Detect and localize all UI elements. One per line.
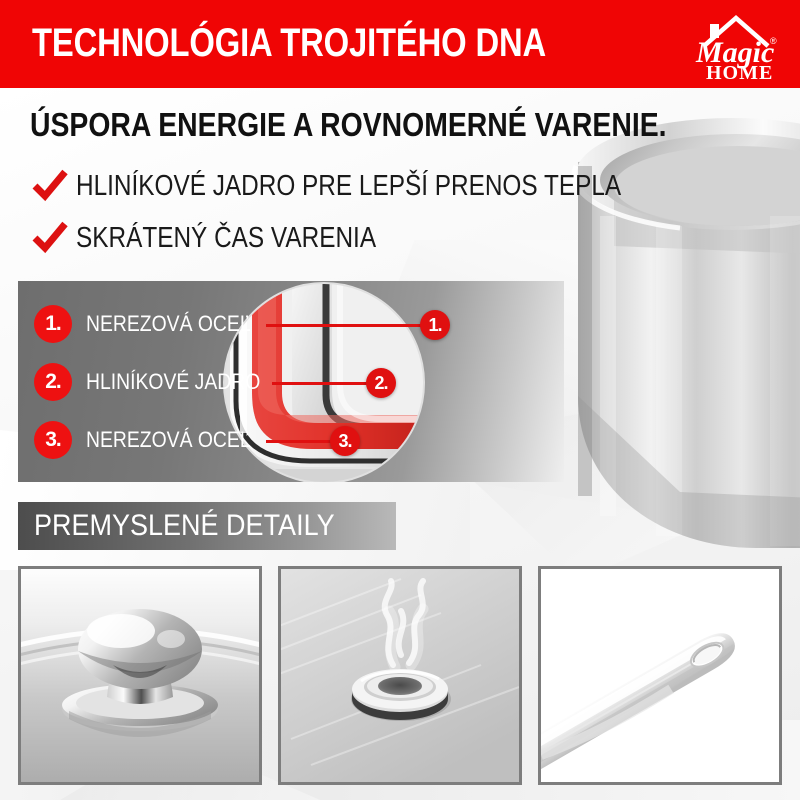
lid-knob-icon (21, 569, 259, 782)
page-headline: ÚSPORA ENERGIE A ROVNOMERNÉ VARENIE. (30, 108, 770, 141)
list-item: 3. NEREZOVÁ OCEĽ (34, 411, 364, 469)
list-item-label: SKRÁTENÝ ČAS VARENIA (76, 224, 433, 253)
layer-legend: 1. NEREZOVÁ OCEĽ 2. HLINÍKOVÉ JADRO 3. (34, 295, 364, 469)
list-item: 2. HLINÍKOVÉ JADRO (34, 353, 364, 411)
steam-vent-icon (281, 569, 519, 782)
check-icon (30, 166, 70, 206)
brand-logo: Magic ® HOME (682, 6, 786, 84)
check-icon (30, 218, 70, 258)
callout-marker-2: 2. (366, 368, 396, 398)
list-item: 1. NEREZOVÁ OCEĽ (34, 295, 364, 353)
list-item: HLINÍKOVÉ JADRO PRE LEPŠÍ PRENOS TEPLA (30, 160, 730, 212)
layer-label-3: NEREZOVÁ OCEĽ (86, 427, 273, 453)
layer-diagram: 1. 2. 3. 1. NEREZOVÁ OCEĽ 2. (18, 281, 564, 482)
callout-marker-1: 1. (420, 310, 450, 340)
detail-panel-handle (538, 566, 782, 785)
handle-icon (541, 569, 779, 782)
layer-badge-2: 2. (34, 363, 72, 401)
detail-panels (18, 566, 782, 785)
layer-badge-1: 1. (34, 305, 72, 343)
details-section-title: PREMYSLENÉ DETAILY (34, 511, 368, 541)
registered-mark-icon: ® (770, 36, 777, 46)
logo-block-name: HOME (706, 62, 773, 84)
header-banner: TECHNOLÓGIA TROJITÉHO DNA Magic ® HOME (0, 0, 800, 88)
details-section-banner: PREMYSLENÉ DETAILY (18, 502, 396, 550)
layer-label-1: NEREZOVÁ OCEĽ (86, 311, 273, 337)
header-title: TECHNOLÓGIA TROJITÉHO DNA (32, 23, 659, 63)
list-item: SKRÁTENÝ ČAS VARENIA (30, 212, 730, 264)
product-infographic: TECHNOLÓGIA TROJITÉHO DNA Magic ® HOME Ú… (0, 0, 800, 800)
layer-badge-3: 3. (34, 421, 72, 459)
detail-panel-steam-vent (278, 566, 522, 785)
feature-list: HLINÍKOVÉ JADRO PRE LEPŠÍ PRENOS TEPLA S… (30, 160, 730, 264)
list-item-label: HLINÍKOVÉ JADRO PRE LEPŠÍ PRENOS TEPLA (76, 172, 725, 201)
detail-panel-lid-knob (18, 566, 262, 785)
layer-label-2: HLINÍKOVÉ JADRO (86, 369, 284, 395)
